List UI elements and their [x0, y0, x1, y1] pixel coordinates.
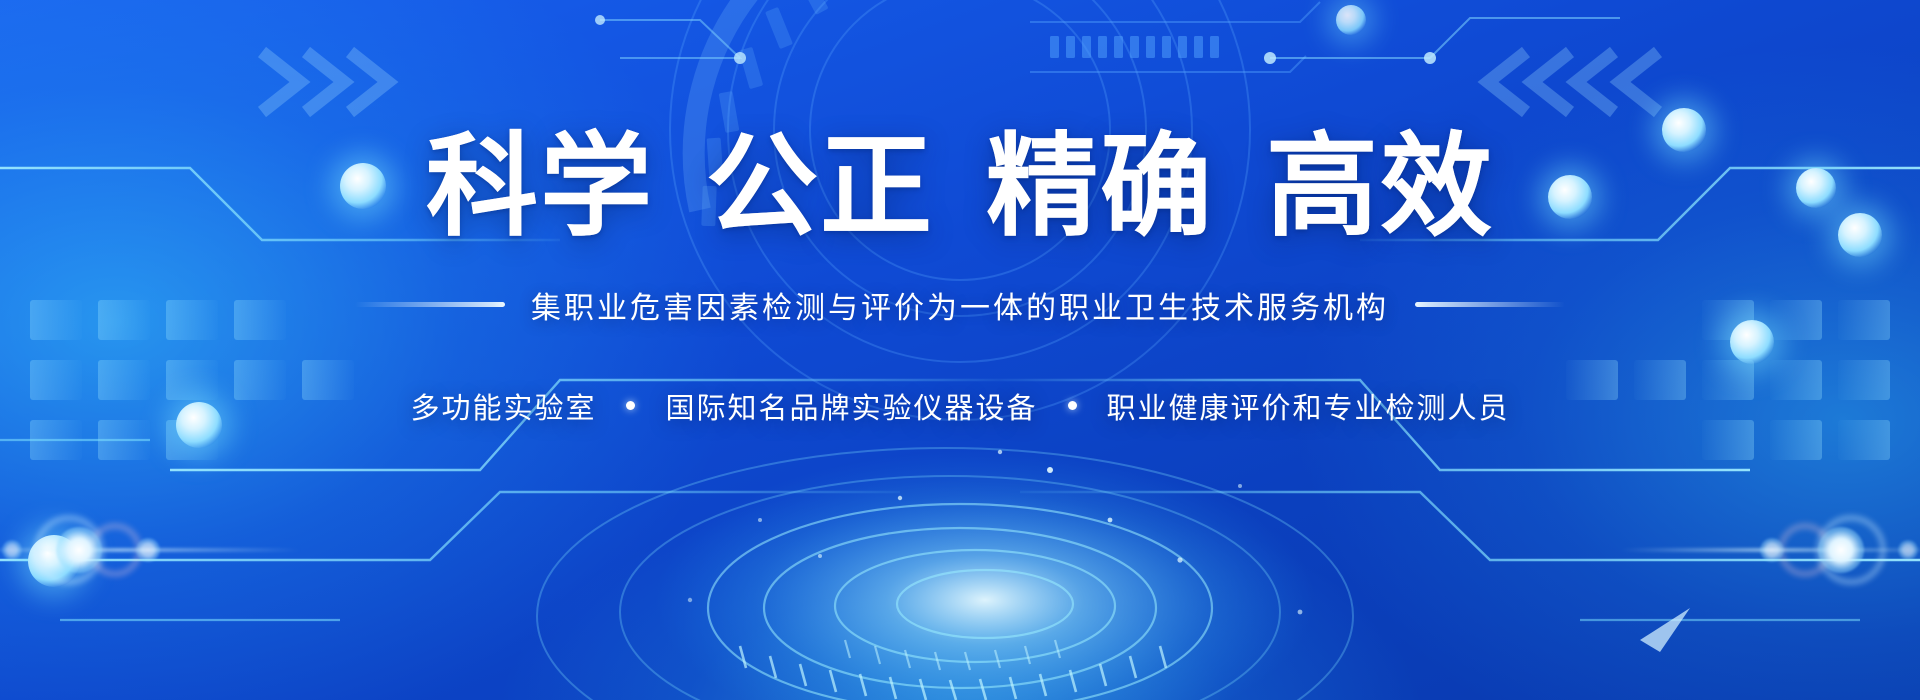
headline-word-3: 精确: [986, 128, 1214, 247]
divider-line-right: [1415, 302, 1565, 307]
subtitle-row: 集职业危害因素检测与评价为一体的职业卫生技术服务机构: [355, 283, 1565, 327]
headline-word-1: 科学: [426, 128, 654, 247]
headline: 科学 公正 精确 高效: [400, 128, 1520, 247]
banner-content: 科学 公正 精确 高效 集职业危害因素检测与评价为一体的职业卫生技术服务机构 多…: [0, 0, 1920, 700]
subtitle-text: 集职业危害因素检测与评价为一体的职业卫生技术服务机构: [531, 283, 1389, 327]
feature-item-3: 职业健康评价和专业检测人员: [1103, 385, 1514, 427]
feature-item-1: 多功能实验室: [406, 385, 600, 427]
hero-banner: 科学 公正 精确 高效 集职业危害因素检测与评价为一体的职业卫生技术服务机构 多…: [0, 0, 1920, 700]
separator-dot-icon: [626, 401, 635, 410]
feature-list: 多功能实验室 国际知名品牌实验仪器设备 职业健康评价和专业检测人员: [406, 385, 1513, 427]
separator-dot-icon: [1068, 401, 1077, 410]
headline-word-2: 公正: [706, 128, 934, 247]
divider-line-left: [355, 302, 505, 307]
headline-word-4: 高效: [1266, 128, 1494, 247]
feature-item-2: 国际知名品牌实验仪器设备: [661, 385, 1041, 427]
